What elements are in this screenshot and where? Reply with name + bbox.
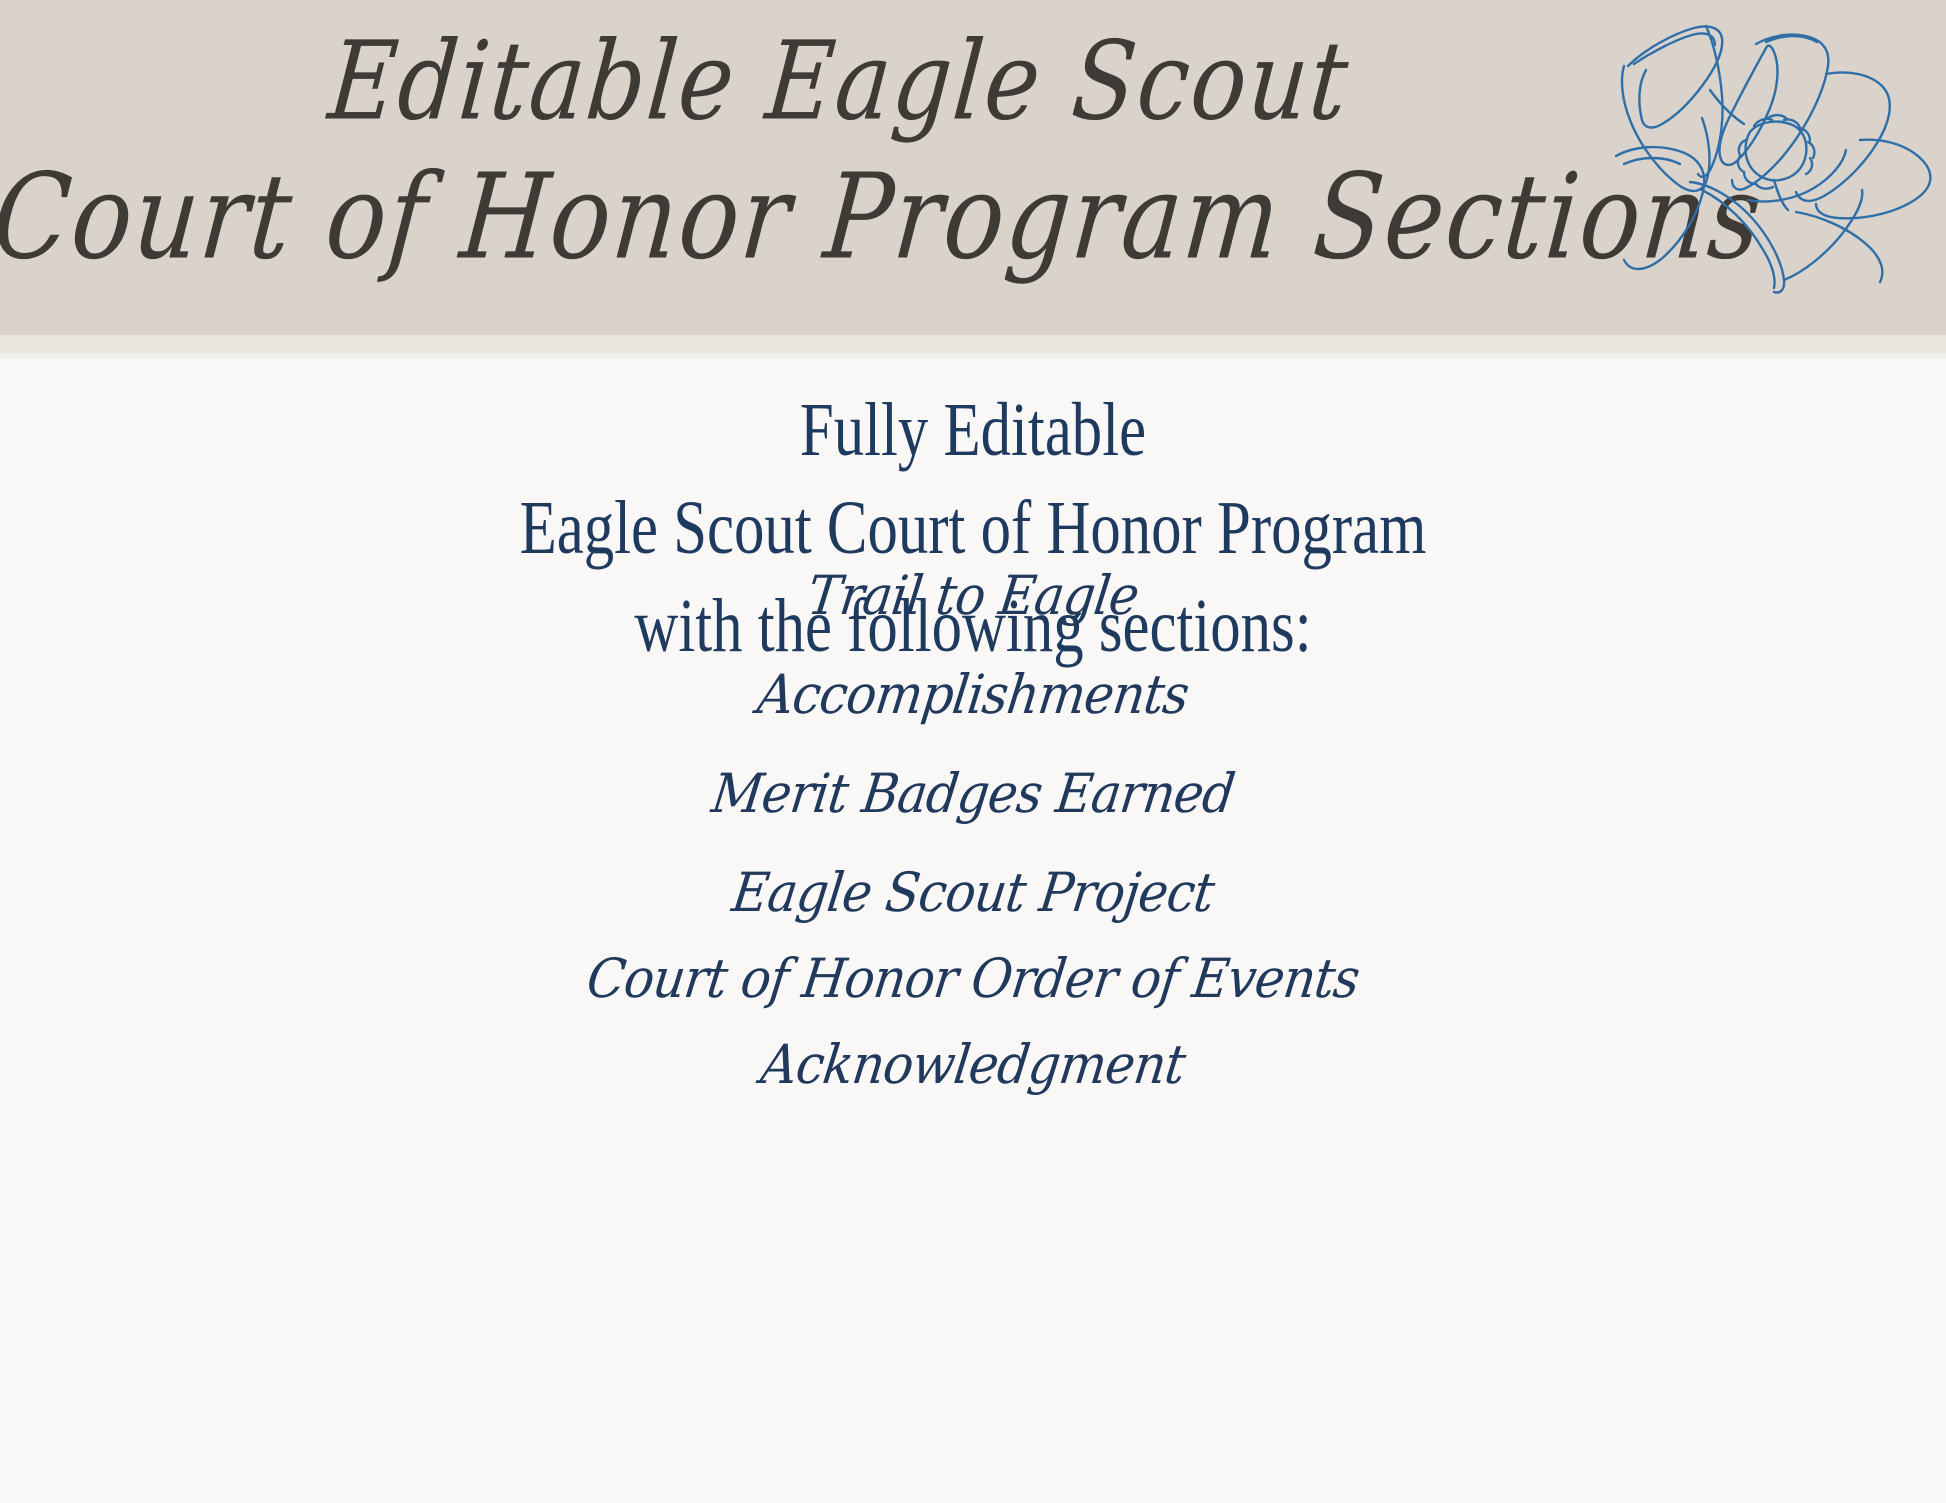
intro-line-2: Eagle Scout Court of Honor Program [195, 490, 1752, 566]
header-band: Editable Eagle Scout Court of Honor Prog… [0, 0, 1946, 335]
header-title-group: Editable Eagle Scout Court of Honor Prog… [0, 0, 1690, 335]
intro-line-1: Fully Editable [195, 392, 1752, 468]
header-title-line-2: Court of Honor Program Sections [0, 148, 1690, 286]
section-item-trail-to-eagle: Trail to Eagle [74, 569, 1871, 623]
section-item-acknowledgment: Acknowledgment [74, 1038, 1871, 1092]
section-item-court-of-honor-order-of-events: Court of Honor Order of Events [74, 952, 1871, 1006]
section-item-merit-badges-earned: Merit Badges Earned [74, 767, 1871, 821]
section-item-accomplishments: Accomplishments [74, 668, 1871, 722]
main-content: Fully Editable Eagle Scout Court of Hono… [0, 359, 1946, 1503]
header-band-accent-strip [0, 335, 1946, 353]
magnolia-flower-icon [1598, 4, 1944, 294]
header-title-line-1: Editable Eagle Scout [0, 18, 1690, 144]
section-item-eagle-scout-project: Eagle Scout Project [74, 866, 1871, 920]
sections-list: Trail to Eagle Accomplishments Merit Bad… [0, 569, 1946, 1092]
